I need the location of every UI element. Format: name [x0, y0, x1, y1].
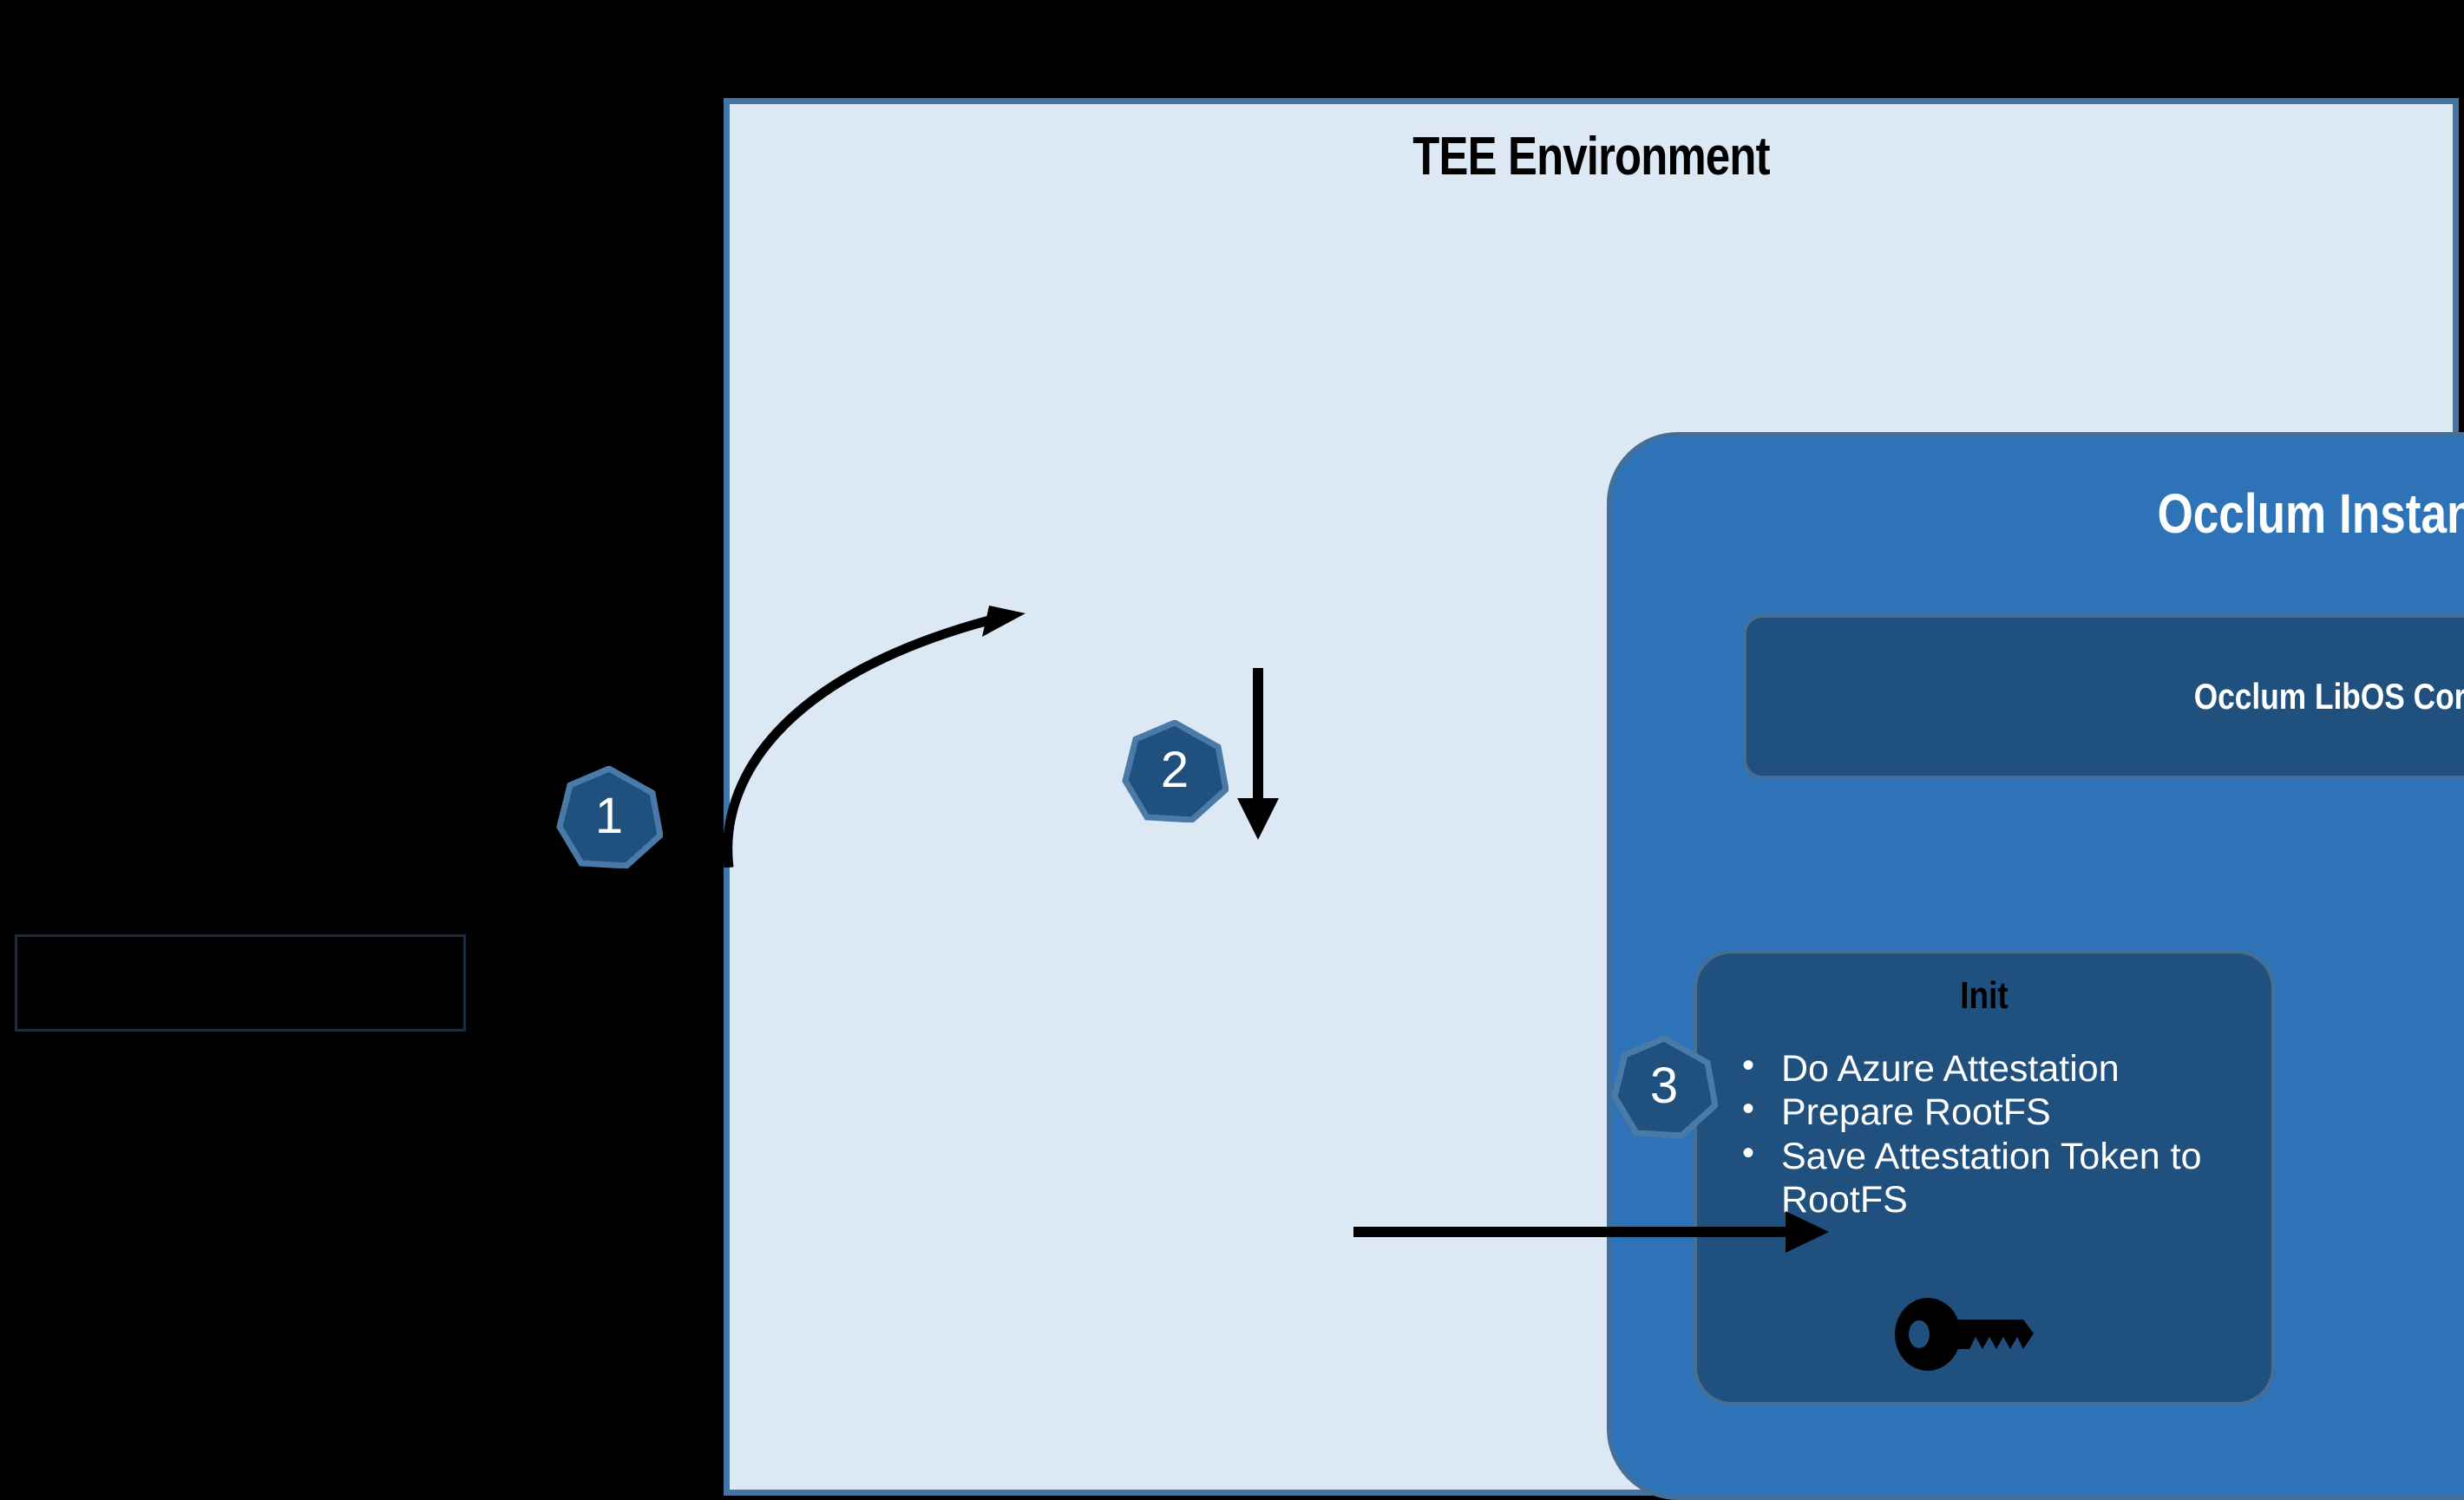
step-badge-3-number: 3: [1610, 1036, 1718, 1138]
occlum-libos-core-box: Occlum LibOS Core: [1743, 614, 2464, 779]
list-item: Do Azure Attestation: [1733, 1047, 2245, 1091]
init-title: Init: [1743, 974, 2225, 1018]
arrow-right-key-transfer: [1353, 1206, 1831, 1258]
left-empty-rectangle: [15, 934, 466, 1032]
step-badge-2: 2: [1121, 720, 1229, 822]
step-badge-3: 3: [1610, 1036, 1718, 1138]
step-badge-2-number: 2: [1121, 720, 1229, 822]
arrow-curved-to-libos-core: [703, 573, 1050, 868]
step-badge-1-number: 1: [555, 766, 663, 868]
key-icon: [1895, 1295, 2051, 1373]
arrow-down-libos-to-init: [1232, 668, 1284, 842]
occlum-instance-title: Occlum Instance: [1735, 481, 2464, 546]
occlum-libos-core-label: Occlum LibOS Core: [2193, 676, 2464, 717]
list-item: Prepare RootFS: [1733, 1091, 2245, 1134]
init-bullet-list: Do Azure Attestation Prepare RootFS Save…: [1733, 1047, 2245, 1222]
step-badge-1: 1: [555, 766, 663, 868]
tee-environment-title: TEE Environment: [885, 126, 2298, 187]
